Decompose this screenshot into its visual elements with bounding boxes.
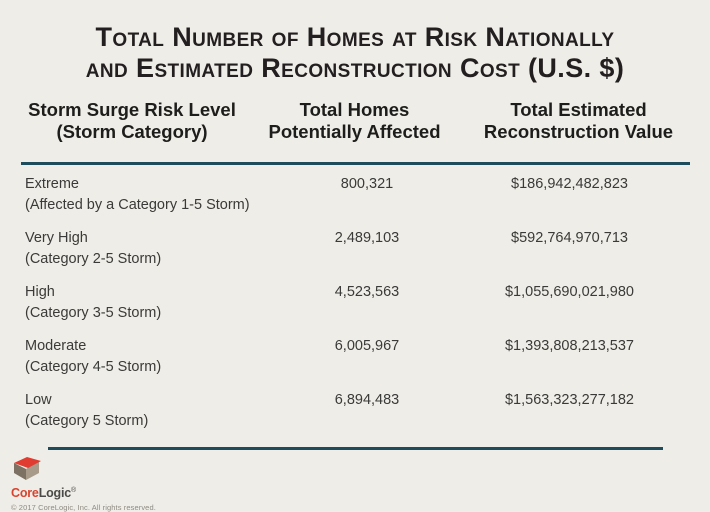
header-divider-rule [21,162,690,165]
wordmark-trademark: ® [71,487,76,494]
table-row: Extreme (Affected by a Category 1-5 Stor… [0,174,710,228]
footer: CoreLogic® © 2017 CoreLogic, Inc. All ri… [11,455,291,512]
column-header-risk-level-line1: Storm Surge Risk Level [28,99,236,120]
wordmark-logic: Logic [39,486,71,500]
table-header: Storm Surge Risk Level (Storm Category) … [0,99,710,143]
wordmark-core: Core [11,486,39,500]
column-header-risk-level-line2: (Storm Category) [12,121,252,143]
table-row: Moderate (Category 4-5 Storm) 6,005,967 … [0,336,710,390]
cell-reconstruction-value: $186,942,482,823 [442,174,697,195]
copyright-text: © 2017 CoreLogic, Inc. All rights reserv… [11,503,291,512]
risk-level-category: (Category 5 Storm) [25,411,292,432]
column-header-risk-level: Storm Surge Risk Level (Storm Category) [12,99,252,143]
table-body: Extreme (Affected by a Category 1-5 Stor… [0,174,710,444]
cell-reconstruction-value: $1,393,808,213,537 [442,336,697,357]
cell-risk-level: High (Category 3-5 Storm) [0,282,292,324]
cell-total-homes: 800,321 [292,174,442,195]
cell-risk-level: Moderate (Category 4-5 Storm) [0,336,292,378]
cell-reconstruction-value: $592,764,970,713 [442,228,697,249]
corelogic-wordmark: CoreLogic® [11,484,291,500]
column-header-reconstruction-value-line1: Total Estimated [510,99,646,120]
table-row: High (Category 3-5 Storm) 4,523,563 $1,0… [0,282,710,336]
risk-level-name: Very High [25,228,292,249]
risk-level-name: High [25,282,292,303]
cell-total-homes: 2,489,103 [292,228,442,249]
table-row: Low (Category 5 Storm) 6,894,483 $1,563,… [0,390,710,444]
risk-level-category: (Category 2-5 Storm) [25,249,292,270]
column-header-total-homes-line1: Total Homes [300,99,410,120]
risk-level-category: (Category 4-5 Storm) [25,357,292,378]
column-header-reconstruction-value: Total Estimated Reconstruction Value [457,99,700,143]
column-header-total-homes: Total Homes Potentially Affected [252,99,457,143]
cell-reconstruction-value: $1,055,690,021,980 [442,282,697,303]
risk-level-category: (Category 3-5 Storm) [25,303,292,324]
risk-level-category: (Affected by a Category 1-5 Storm) [25,195,292,216]
risk-level-name: Extreme [25,174,292,195]
corelogic-cube-icon [11,455,45,483]
title-line-2: and Estimated Reconstruction Cost (U.S. … [0,53,710,84]
cell-risk-level: Extreme (Affected by a Category 1-5 Stor… [0,174,292,216]
cell-risk-level: Low (Category 5 Storm) [0,390,292,432]
cell-reconstruction-value: $1,563,323,277,182 [442,390,697,411]
cell-total-homes: 6,005,967 [292,336,442,357]
footer-divider-rule [48,447,663,450]
cell-total-homes: 6,894,483 [292,390,442,411]
page-title: Total Number of Homes at Risk Nationally… [0,0,710,84]
column-header-reconstruction-value-line2: Reconstruction Value [457,121,700,143]
title-line-1: Total Number of Homes at Risk Nationally [0,22,710,53]
table-row: Very High (Category 2-5 Storm) 2,489,103… [0,228,710,282]
column-header-total-homes-line2: Potentially Affected [252,121,457,143]
risk-level-name: Low [25,390,292,411]
cell-total-homes: 4,523,563 [292,282,442,303]
risk-level-name: Moderate [25,336,292,357]
cell-risk-level: Very High (Category 2-5 Storm) [0,228,292,270]
